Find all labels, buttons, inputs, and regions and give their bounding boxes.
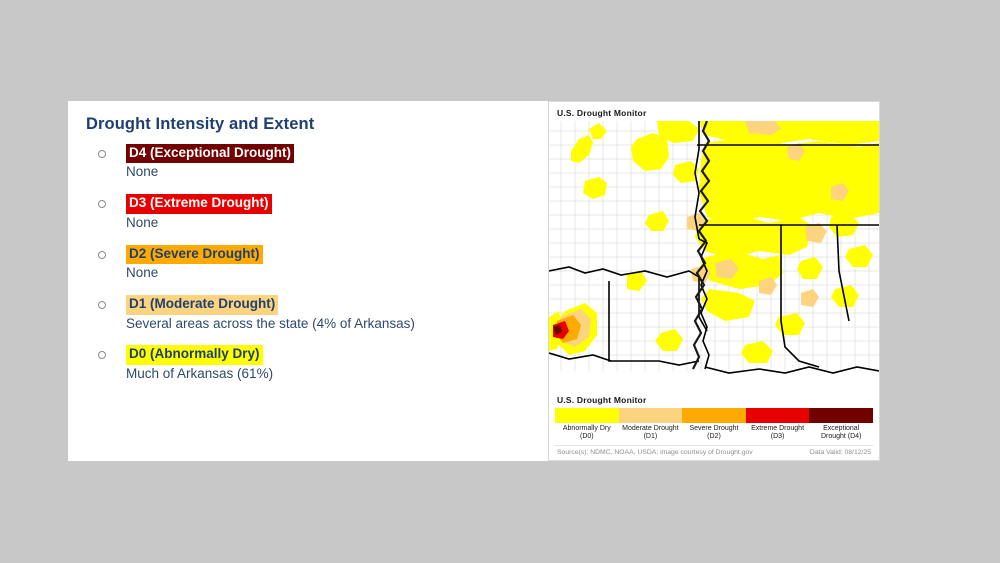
legend-labels: Abnormally Dry (D0) Moderate Drought (D1… xyxy=(555,425,873,442)
legend-label-d2: Severe Drought (D2) xyxy=(682,425,746,442)
drought-summary-panel: Drought Intensity and Extent D4 (Excepti… xyxy=(68,101,548,461)
bullet-circle-icon xyxy=(98,301,106,309)
status-badge: D1 (Moderate Drought) xyxy=(126,295,278,314)
bullet-circle-icon xyxy=(98,200,106,208)
map-data-valid-text: Data Valid: 08/12/25 xyxy=(810,449,871,456)
content-card: Drought Intensity and Extent D4 (Excepti… xyxy=(68,101,880,461)
status-badge: D3 (Extreme Drought) xyxy=(126,194,272,213)
legend-swatch-d3 xyxy=(746,408,810,423)
status-badge: D4 (Exceptional Drought) xyxy=(126,144,294,163)
legend-title: U.S. Drought Monitor xyxy=(555,394,873,408)
drought-monitor-map-panel: U.S. Drought Monitor xyxy=(548,101,880,461)
slide-canvas: Drought Intensity and Extent D4 (Excepti… xyxy=(0,0,1000,563)
list-item: D4 (Exceptional Drought) None xyxy=(126,144,548,181)
status-badge: D0 (Abnormally Dry) xyxy=(126,345,263,364)
map-header-title: U.S. Drought Monitor xyxy=(549,102,879,121)
legend-label-d0: Abnormally Dry (D0) xyxy=(555,425,619,442)
bullet-circle-icon xyxy=(98,251,106,259)
bullet-circle-icon xyxy=(98,150,106,158)
status-badge: D2 (Severe Drought) xyxy=(126,245,263,264)
category-description: None xyxy=(126,164,548,181)
map-source-text: Source(s): NDMC, NOAA, USDA; image court… xyxy=(557,449,753,456)
drought-category-list: D4 (Exceptional Drought) None D3 (Extrem… xyxy=(82,144,548,383)
category-description: Much of Arkansas (61%) xyxy=(126,366,548,383)
category-description: None xyxy=(126,265,548,282)
list-item: D3 (Extreme Drought) None xyxy=(126,194,548,231)
list-item: D2 (Severe Drought) None xyxy=(126,245,548,282)
drought-map-image xyxy=(549,121,879,393)
legend-label-d3: Extreme Drought (D3) xyxy=(746,425,810,442)
legend-swatch-d1 xyxy=(619,408,683,423)
legend-label-d4: Exceptional Drought (D4) xyxy=(809,425,873,442)
legend-color-bar xyxy=(555,408,873,423)
page-title: Drought Intensity and Extent xyxy=(86,115,548,134)
category-description: Several areas across the state (4% of Ar… xyxy=(126,316,548,333)
legend-label-d1: Moderate Drought (D1) xyxy=(619,425,683,442)
legend-swatch-d4 xyxy=(809,408,873,423)
category-description: None xyxy=(126,215,548,232)
map-legend: U.S. Drought Monitor Abnormally Dry (D0)… xyxy=(549,394,879,461)
legend-swatch-d2 xyxy=(682,408,746,423)
list-item: D0 (Abnormally Dry) Much of Arkansas (61… xyxy=(126,345,548,382)
list-item: D1 (Moderate Drought) Several areas acro… xyxy=(126,295,548,332)
drought-map-svg xyxy=(549,121,879,393)
legend-swatch-d0 xyxy=(555,408,619,423)
bullet-circle-icon xyxy=(98,351,106,359)
map-footer: Source(s): NDMC, NOAA, USDA; image court… xyxy=(555,445,873,460)
